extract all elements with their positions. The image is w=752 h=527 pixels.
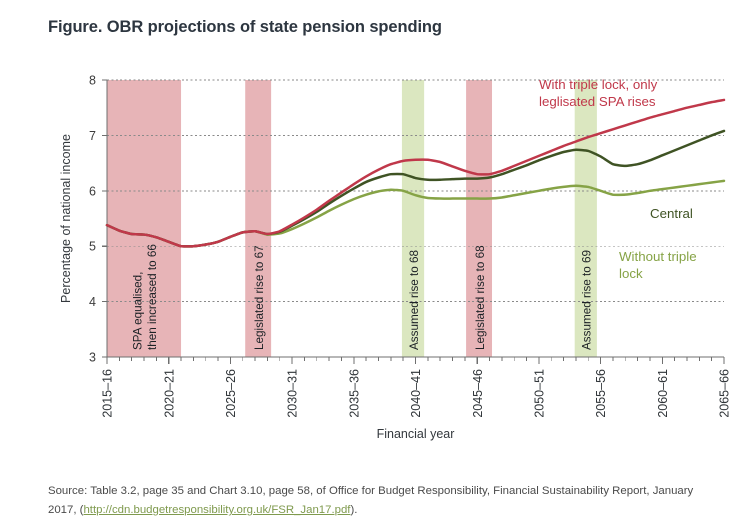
figure-container: Figure. OBR projections of state pension… xyxy=(0,0,752,527)
x-axis-ticks-group: 2015–162020–212025–262030–312035–362040–… xyxy=(101,357,732,418)
pension-spending-line-chart: 345678 2015–162020–212025–262030–312035–… xyxy=(0,58,752,453)
band-label-assumed-rise-69: Assumed rise to 69 xyxy=(581,250,594,350)
y-axis-ticks-group: 345678 xyxy=(89,74,107,365)
y-tick-label-7: 7 xyxy=(89,129,96,143)
x-tick-label-2060: 2060–61 xyxy=(656,369,670,418)
source-suffix-text: ). xyxy=(350,504,357,516)
x-tick-label-2065: 2065–66 xyxy=(718,369,732,418)
chart-area: 345678 2015–162020–212025–262030–312035–… xyxy=(0,58,752,453)
x-tick-label-2055: 2055–56 xyxy=(594,369,608,418)
y-tick-label-4: 4 xyxy=(89,295,96,309)
series-annotations-group: With triple lock, onlyleglisated SPA ris… xyxy=(539,77,697,281)
y-tick-label-5: 5 xyxy=(89,240,96,254)
y-tick-label-8: 8 xyxy=(89,74,96,88)
band-labels-group: SPA equalised,then increased to 66Legisl… xyxy=(132,244,594,350)
source-url-link[interactable]: http://cdn.budgetresponsibility.org.uk/F… xyxy=(83,504,350,516)
x-tick-label-2045: 2045–46 xyxy=(471,369,485,418)
x-tick-label-2020: 2020–21 xyxy=(162,369,176,418)
without-triple-lock-annotation-line1: Without triple xyxy=(619,249,697,264)
x-tick-label-2040: 2040–41 xyxy=(409,369,423,418)
triple-lock-annotation-line2: leglisated SPA rises xyxy=(539,94,656,109)
source-note: Source: Table 3.2, page 35 and Chart 3.1… xyxy=(48,482,708,520)
band-label-spa-equalised-66-line2: then increased to 66 xyxy=(146,244,159,350)
x-tick-label-2015: 2015–16 xyxy=(101,369,115,418)
y-tick-label-3: 3 xyxy=(89,351,96,365)
x-tick-label-2025: 2025–26 xyxy=(224,369,238,418)
x-tick-label-2035: 2035–36 xyxy=(347,369,361,418)
y-axis-title: Percentage of national income xyxy=(59,134,73,303)
page-title: Figure. OBR projections of state pension… xyxy=(48,18,442,37)
band-label-spa-equalised-66-line1: SPA equalised, xyxy=(132,272,145,350)
x-tick-label-2050: 2050–51 xyxy=(533,369,547,418)
central-annotation: Central xyxy=(650,206,693,221)
band-label-legislated-rise-68: Legislated rise to 68 xyxy=(474,245,487,350)
band-label-assumed-rise-68: Assumed rise to 68 xyxy=(408,250,421,350)
x-axis-title: Financial year xyxy=(377,427,455,441)
without-triple-lock-annotation-line2: lock xyxy=(619,266,643,281)
y-tick-label-6: 6 xyxy=(89,184,96,198)
triple-lock-annotation-line1: With triple lock, only xyxy=(539,77,658,92)
shaded-bands-group xyxy=(107,80,597,357)
x-tick-label-2030: 2030–31 xyxy=(286,369,300,418)
band-label-legislated-rise-67: Legislated rise to 67 xyxy=(253,245,266,350)
